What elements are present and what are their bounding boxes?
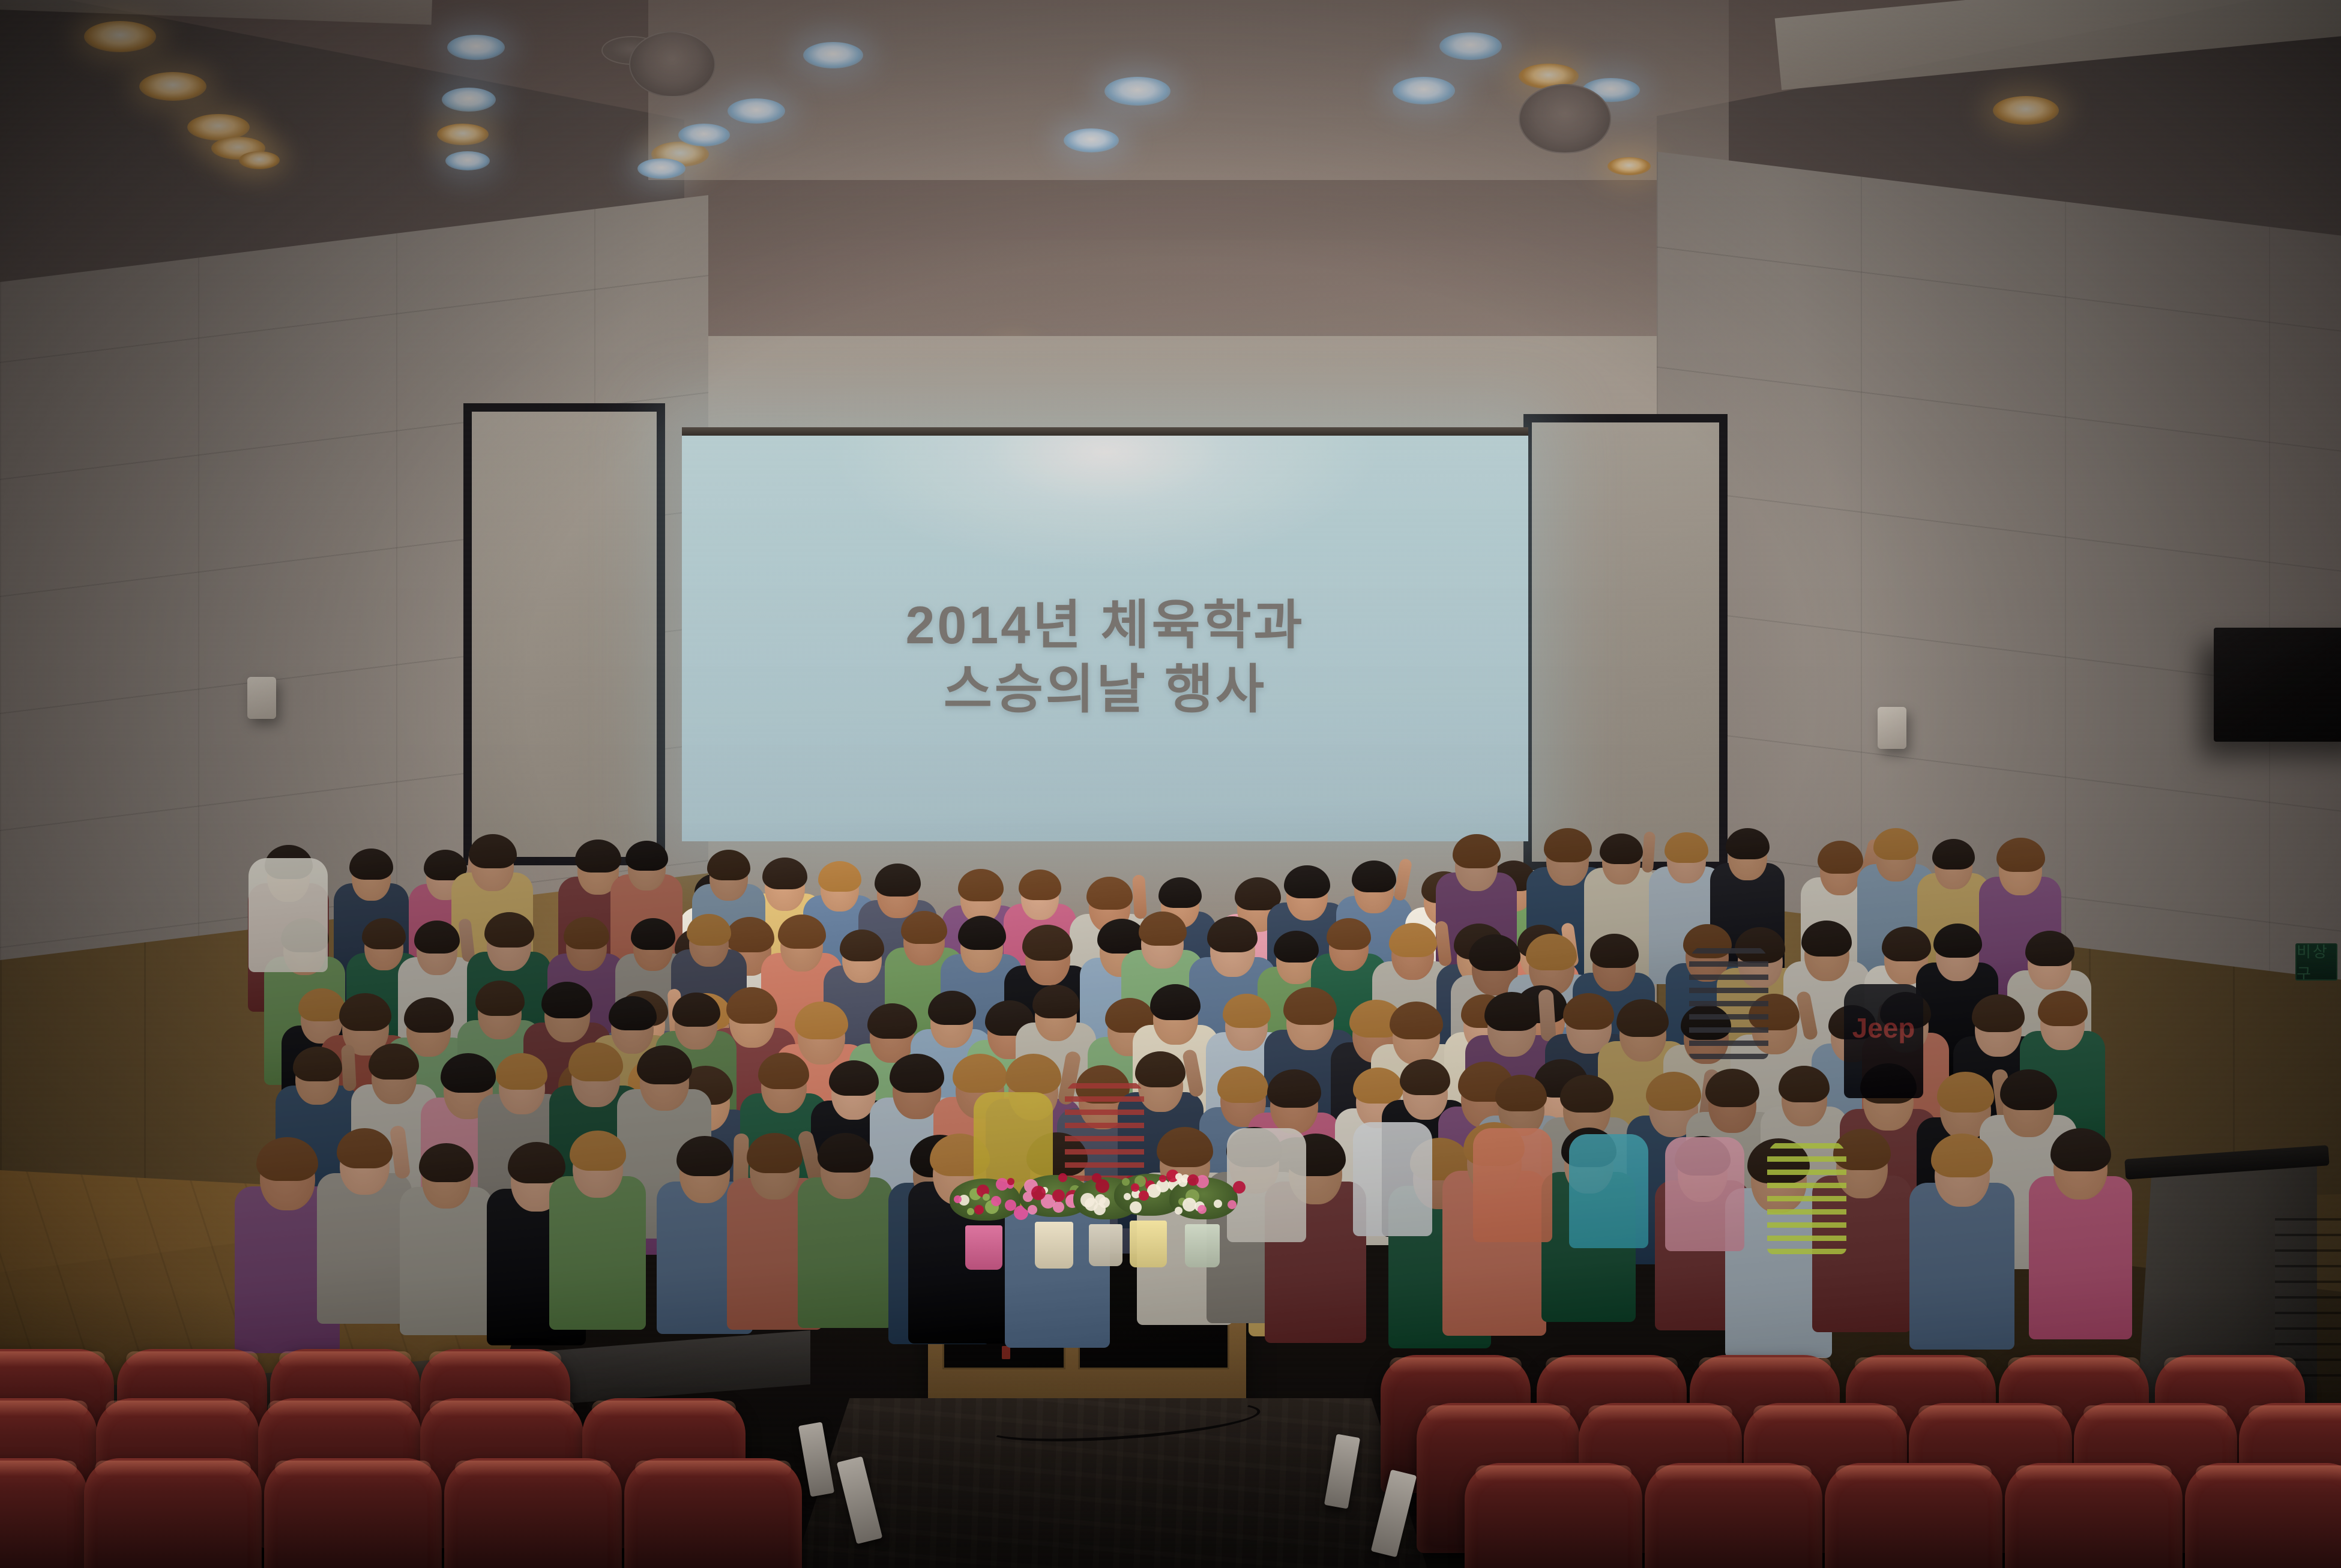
ceiling-downlight-14	[803, 42, 863, 68]
cabinet-indicator-left	[1002, 1346, 1010, 1359]
flower-pot-vessel	[1089, 1224, 1122, 1266]
ceiling-downlight-13	[728, 98, 785, 124]
projected-slide-text: 2014년 체육학과 스승의날 행사	[682, 593, 1528, 722]
seat-row-near-left[interactable]	[0, 1458, 88, 1568]
flower-bloom	[1122, 1178, 1130, 1186]
flower-bloom	[1058, 1173, 1067, 1182]
flower-bloom	[1130, 1201, 1142, 1213]
flower-pot-vessel	[1035, 1222, 1073, 1269]
slide-line-2: 스승의날 행사	[682, 657, 1528, 721]
exit-sign-label: 비상구	[2297, 943, 2336, 981]
crowd-person-torso	[1442, 1171, 1546, 1336]
flower-pot-5	[1185, 1173, 1220, 1267]
exit-sign: 비상구	[2295, 943, 2337, 981]
flower-pot-4	[1130, 1169, 1167, 1267]
flower-bloom	[1031, 1186, 1046, 1200]
wall-sensor-right	[1878, 707, 1906, 749]
crowd-person-torso	[1541, 1172, 1636, 1322]
ceiling-downlight-8	[239, 151, 280, 169]
wall-panel-right-surface	[1532, 422, 1719, 862]
flower-bloom	[1198, 1205, 1207, 1214]
flower-bloom	[1178, 1178, 1187, 1187]
crowd-person-torso	[1249, 1183, 1345, 1336]
seat-row-near-right[interactable]	[1825, 1463, 2002, 1568]
ceiling-downlight-22	[1993, 96, 2059, 125]
projection-screen: 2014년 체육학과 스승의날 행사	[682, 427, 1528, 841]
flower-bloom	[1007, 1178, 1014, 1185]
auditorium-photograph: 2014년 체육학과 스승의날 행사 비상구 Jeep	[0, 0, 2341, 1568]
flower-bloom	[1028, 1205, 1037, 1215]
ceiling-downlight-7	[445, 151, 490, 170]
seat-armrest	[798, 1422, 834, 1497]
wall-panel-right	[1523, 414, 1728, 870]
flower-bloom	[1183, 1198, 1196, 1212]
ceiling-downlight-21	[1607, 157, 1651, 175]
seat-row-near-right[interactable]	[1645, 1463, 1822, 1568]
flower-bloom	[1053, 1201, 1064, 1213]
projection-screen-roller	[682, 427, 1528, 436]
ceiling-air-vent-right	[1519, 84, 1611, 154]
crowd-person-torso	[1388, 1186, 1491, 1348]
flower-bloom	[1214, 1200, 1222, 1208]
wall-slat-panel	[2275, 1218, 2341, 1380]
flower-bloom	[1228, 1200, 1237, 1209]
flower-pot-1	[965, 1174, 1002, 1270]
seat-row-near-left[interactable]	[84, 1458, 262, 1568]
wall-panel-left-surface	[472, 412, 657, 857]
wall-panel-left	[463, 403, 665, 865]
seat-row-near-right[interactable]	[1465, 1463, 1642, 1568]
flower-bloom	[1099, 1197, 1110, 1208]
wall-monitor[interactable]	[2214, 628, 2341, 742]
flower-bloom	[954, 1195, 962, 1203]
flower-bloom	[1139, 1191, 1149, 1201]
flower-bloom	[1131, 1183, 1139, 1192]
crowd-person-torso	[1265, 1182, 1366, 1343]
ceiling-downlight-2	[139, 72, 206, 101]
flower-bloom	[1052, 1189, 1065, 1202]
flower-bloom	[1095, 1179, 1109, 1193]
flower-bloom	[1175, 1207, 1183, 1215]
slide-line-1: 2014년 체육학과	[682, 593, 1528, 657]
ceiling-air-vent-left	[629, 31, 716, 97]
flower-pot-vessel	[1185, 1224, 1220, 1267]
flower-pot-vessel	[1130, 1221, 1167, 1267]
crowd-person-torso	[727, 1178, 822, 1330]
flower-bloom	[983, 1194, 990, 1201]
ceiling-downlight-9	[447, 35, 505, 60]
crowd-person-torso	[657, 1182, 753, 1334]
flower-bloom	[1159, 1175, 1166, 1182]
seat-row-near-left[interactable]	[624, 1458, 802, 1568]
flower-bloom	[996, 1178, 1008, 1191]
ceiling-downlight-12	[678, 124, 730, 146]
crowd-person-torso	[798, 1177, 893, 1328]
flower-bloom	[1233, 1181, 1246, 1194]
cabinet-indicator-right	[1081, 1305, 1089, 1318]
ceiling-downlight-5	[442, 88, 496, 112]
seat-row-near-left[interactable]	[264, 1458, 442, 1568]
seat-row-near-right[interactable]	[2185, 1463, 2341, 1568]
ceiling-downlight-16	[1064, 128, 1119, 152]
flower-bloom	[1085, 1198, 1098, 1211]
cabinet-door-right[interactable]	[1078, 1251, 1229, 1369]
flower-bloom	[974, 1205, 984, 1215]
flower-pot-2	[1035, 1170, 1073, 1269]
ceiling-downlight-1	[84, 21, 156, 52]
ceiling-downlight-15	[1104, 77, 1170, 106]
flower-bloom	[991, 1196, 1001, 1206]
flower-bloom	[1124, 1193, 1131, 1200]
flower-pot-vessel	[965, 1225, 1002, 1270]
ceiling-downlight-11	[637, 158, 685, 179]
ceiling-downlight-6	[437, 124, 489, 145]
ceiling-downlight-17	[1393, 77, 1455, 104]
seat-row-near-right[interactable]	[2005, 1463, 2183, 1568]
wall-sensor-left	[247, 677, 276, 719]
ceiling-downlight-18	[1439, 32, 1502, 60]
flower-bloom	[1187, 1174, 1199, 1186]
seat-row-near-left[interactable]	[444, 1458, 622, 1568]
flower-bloom	[967, 1208, 974, 1215]
